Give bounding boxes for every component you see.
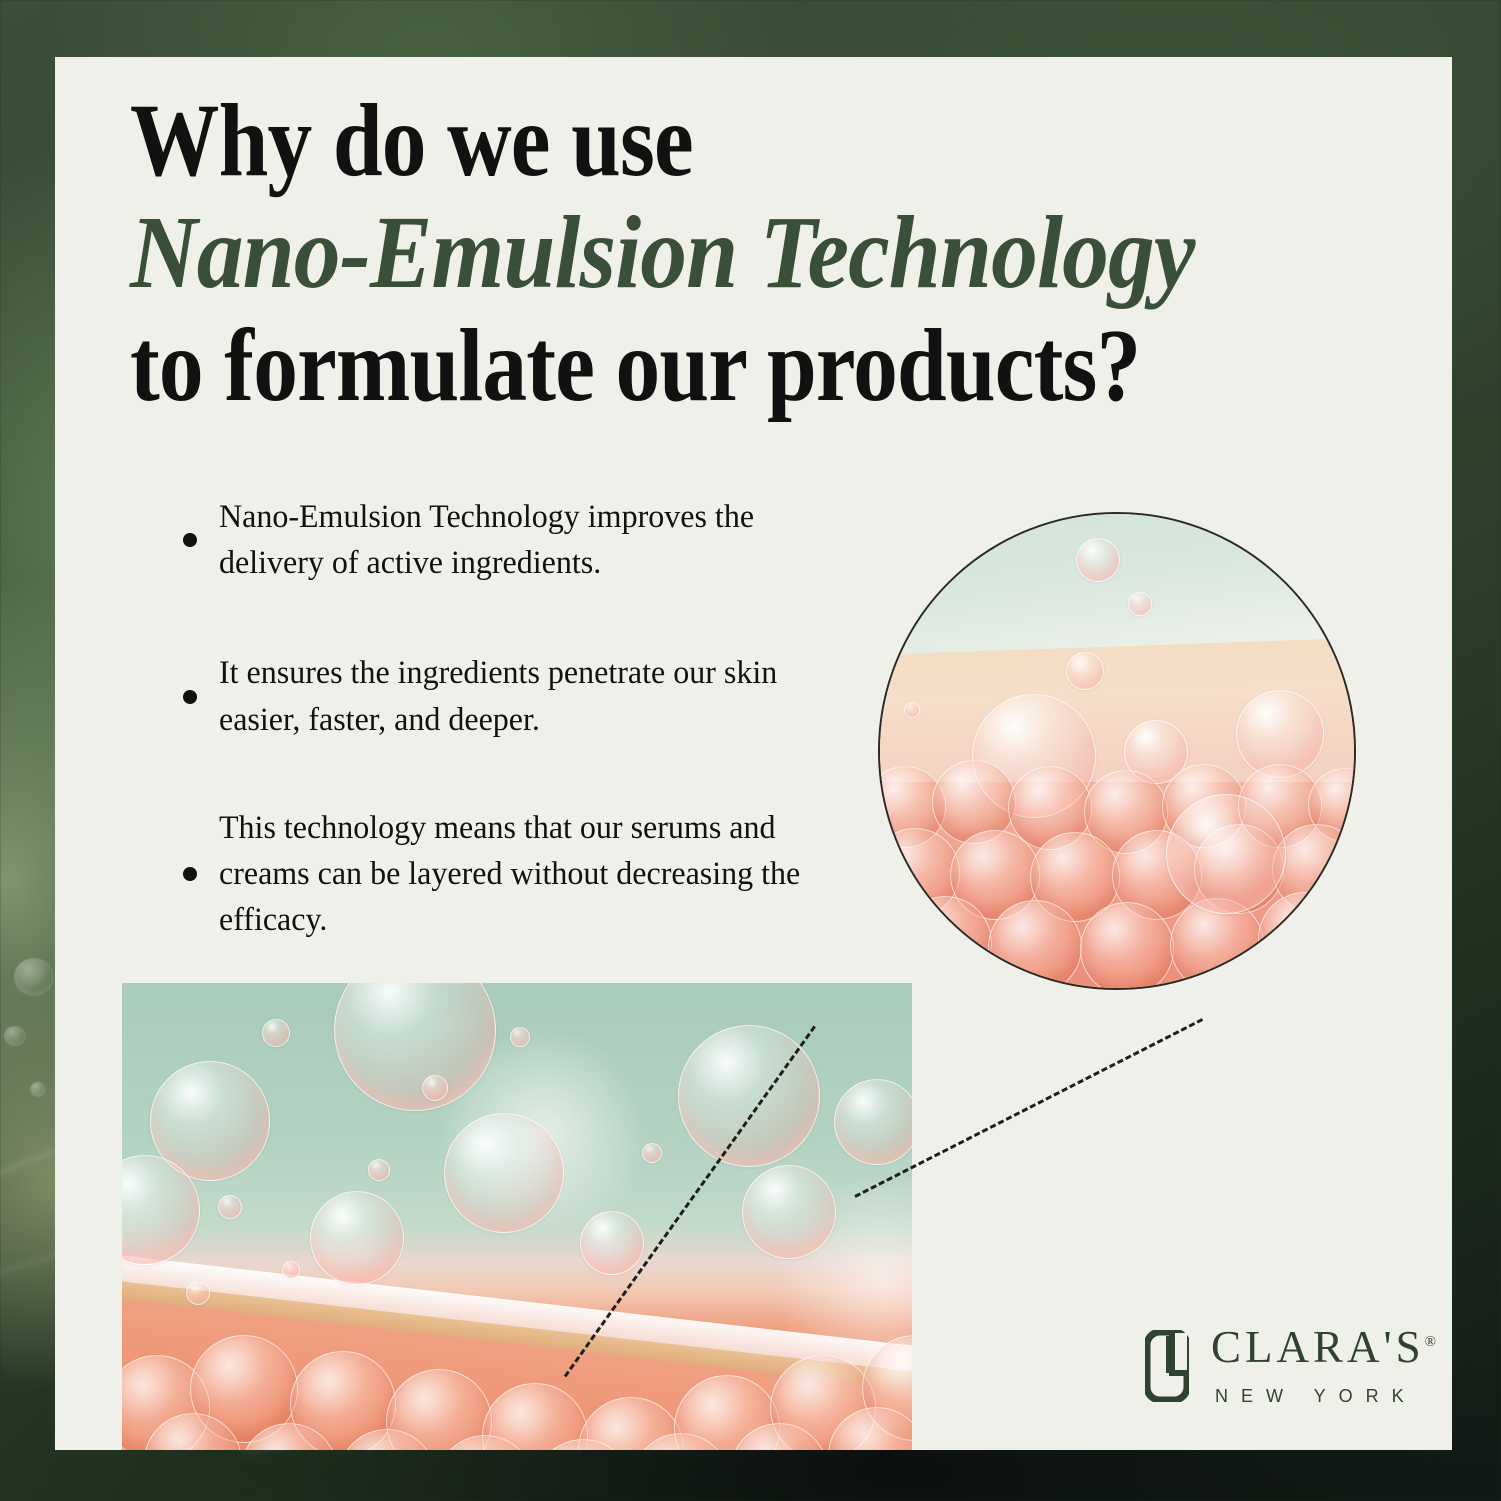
headline-line-3: to formulate our products?: [130, 310, 1239, 422]
bubble: [444, 1113, 564, 1233]
bubble: [368, 1159, 390, 1181]
headline-line-2: Nano-Emulsion Technology: [130, 197, 1291, 309]
list-item-label: It ensures the ingredients penetrate our…: [219, 650, 863, 742]
clara-monogram-icon: [1145, 1330, 1189, 1402]
page-title: Why do we use Nano-Emulsion Technology t…: [130, 85, 1420, 422]
bubble: [1076, 538, 1120, 582]
bubble: [1258, 892, 1352, 986]
list-item-label: This technology means that our serums an…: [219, 805, 863, 944]
poster: Why do we use Nano-Emulsion Technology t…: [0, 0, 1501, 1501]
list-item: Nano-Emulsion Technology improves the de…: [183, 494, 883, 586]
bullet-dot-icon: [183, 690, 197, 704]
bubble: [642, 1143, 662, 1163]
bubble: [310, 1191, 404, 1285]
water-droplet-icon: [30, 1082, 46, 1097]
bubble: [186, 1281, 210, 1305]
brand-logo: CLARA'S® NEW YORK: [1145, 1325, 1436, 1407]
magnified-inset: [878, 512, 1356, 990]
list-item: It ensures the ingredients penetrate our…: [183, 650, 883, 742]
bubble: [898, 896, 992, 990]
benefit-list: Nano-Emulsion Technology improves the de…: [183, 494, 883, 943]
bubble: [1066, 652, 1104, 690]
bubble: [834, 1079, 912, 1165]
water-droplet-icon: [4, 1026, 26, 1046]
bubble: [218, 1195, 242, 1219]
bubble: [1166, 794, 1286, 914]
bubble: [1128, 592, 1152, 616]
brand-name-text: CLARA'S: [1211, 1322, 1425, 1372]
content-card: Why do we use Nano-Emulsion Technology t…: [55, 57, 1452, 1450]
bubble: [334, 983, 496, 1111]
bubble: [580, 1211, 644, 1275]
bullet-dot-icon: [183, 867, 197, 881]
bubble: [904, 702, 920, 718]
bullet-dot-icon: [183, 533, 197, 547]
brand-city: NEW YORK: [1215, 1386, 1436, 1407]
registered-mark: ®: [1425, 1334, 1436, 1350]
bubble: [742, 1165, 836, 1259]
bubble: [282, 1261, 300, 1279]
bubble: [510, 1027, 530, 1047]
logo-wordmark: CLARA'S® NEW YORK: [1211, 1325, 1436, 1407]
bubble: [988, 900, 1082, 990]
water-droplet-icon: [14, 958, 54, 996]
bubble: [1080, 902, 1174, 990]
headline-line-1: Why do we use: [130, 85, 1239, 197]
list-item: This technology means that our serums an…: [183, 805, 883, 944]
bubble: [422, 1075, 448, 1101]
list-item-label: Nano-Emulsion Technology improves the de…: [219, 494, 863, 586]
bubble: [262, 1019, 290, 1047]
brand-name: CLARA'S®: [1211, 1325, 1436, 1370]
